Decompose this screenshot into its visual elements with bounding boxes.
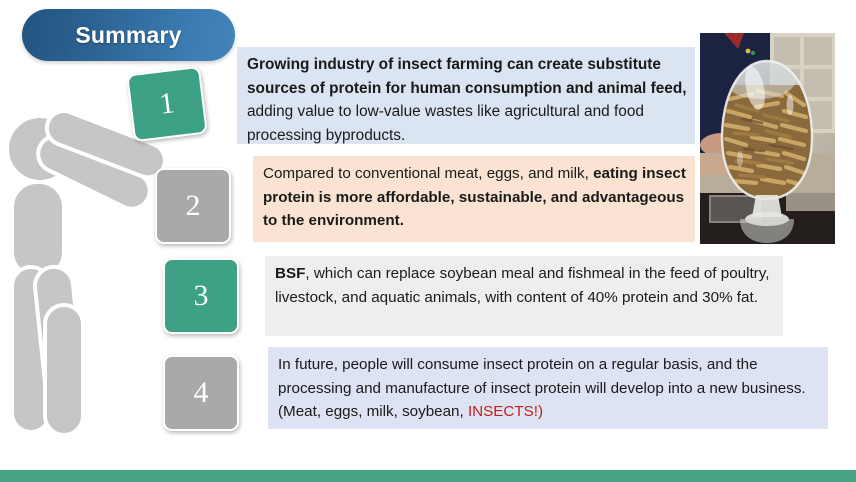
point-text-normal-1: adding value to low-value wastes like ag…: [247, 103, 644, 144]
bottom-accent-bar: [0, 470, 856, 482]
larvae-jar-photo: [700, 33, 835, 244]
summary-slide: Summary 1 2 3: [0, 0, 856, 482]
point-text-bold-3: BSF: [275, 265, 305, 282]
point-number-box-4: 4: [163, 355, 239, 431]
point-text-block-3: BSF, which can replace soybean meal and …: [265, 256, 783, 336]
point-text-normal-3: , which can replace soybean meal and fis…: [275, 265, 769, 306]
point-number-box-2: 2: [155, 168, 231, 244]
point-number-box-3: 3: [163, 258, 239, 334]
point-text-block-2: Compared to conventional meat, eggs, and…: [253, 156, 695, 242]
point-number-label-4: 4: [194, 376, 209, 410]
pointing-person-silhouette-icon: [0, 110, 180, 460]
point-text-normal-2: Compared to conventional meat, eggs, and…: [263, 165, 593, 182]
point-number-label-2: 2: [186, 189, 201, 223]
point-number-box-1: 1: [126, 66, 208, 143]
point-text-bold-1: Growing industry of insect farming can c…: [247, 56, 687, 97]
summary-badge: Summary: [22, 9, 235, 61]
point-text-highlight-4: INSECTS!): [468, 403, 543, 420]
point-text-block-4: In future, people will consume insect pr…: [268, 347, 828, 429]
point-number-label-1: 1: [157, 86, 176, 122]
summary-badge-label: Summary: [75, 22, 181, 49]
point-number-label-3: 3: [194, 279, 209, 313]
point-text-block-1: Growing industry of insect farming can c…: [237, 47, 695, 144]
